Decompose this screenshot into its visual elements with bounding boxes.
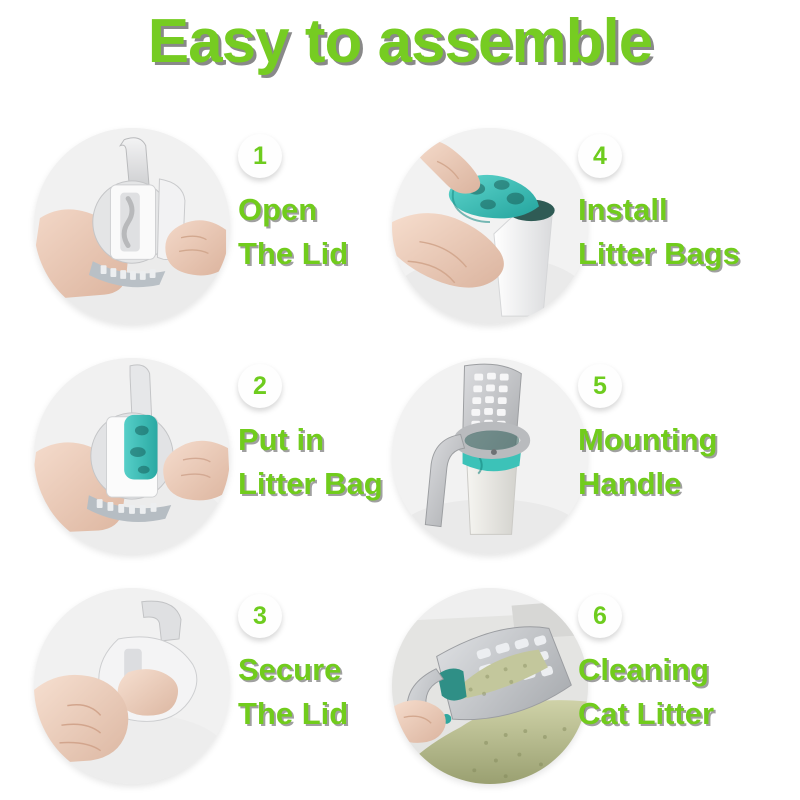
step-card-1: 1 Open The Lid — [0, 110, 400, 340]
step-number-badge: 1 — [238, 134, 282, 178]
photo-scooping-cat-litter — [392, 588, 588, 784]
step-card-3: 3 Secure The Lid — [0, 570, 400, 800]
step-card-6: 6 Cleaning Cat Litter — [370, 570, 770, 800]
caption-line-1: Cleaning — [578, 648, 800, 692]
step-card-2: 2 Put in Litter Bag — [0, 340, 400, 570]
caption-line-2: Cat Litter — [578, 692, 800, 736]
infographic-page: Easy to assemble — [0, 0, 800, 800]
step-card-5: 5 Mounting Handle — [370, 340, 770, 570]
photo-assembled-scoop-with-handle — [392, 358, 588, 554]
step-card-4: 4 Install Litter Bags — [370, 110, 770, 340]
photo-hands-opening-lid — [34, 128, 230, 324]
photo-hands-installing-bag-in-bin — [392, 128, 588, 324]
photo-hands-closing-lid — [34, 588, 230, 784]
caption-line-2: Handle — [578, 462, 800, 506]
caption-line-1: Install — [578, 188, 800, 232]
step-number-badge: 4 — [578, 134, 622, 178]
photo-hands-inserting-bag-roll — [34, 358, 230, 554]
step-number-badge: 6 — [578, 594, 622, 638]
caption-line-1: Mounting — [578, 418, 800, 462]
step-caption: Cleaning Cat Litter — [578, 648, 800, 736]
step-number-badge: 3 — [238, 594, 282, 638]
caption-line-2: Litter Bags — [578, 232, 800, 276]
step-number-badge: 5 — [578, 364, 622, 408]
step-number-badge: 2 — [238, 364, 282, 408]
page-title: Easy to assemble — [0, 6, 800, 77]
step-caption: Install Litter Bags — [578, 188, 800, 276]
step-caption: Mounting Handle — [578, 418, 800, 506]
